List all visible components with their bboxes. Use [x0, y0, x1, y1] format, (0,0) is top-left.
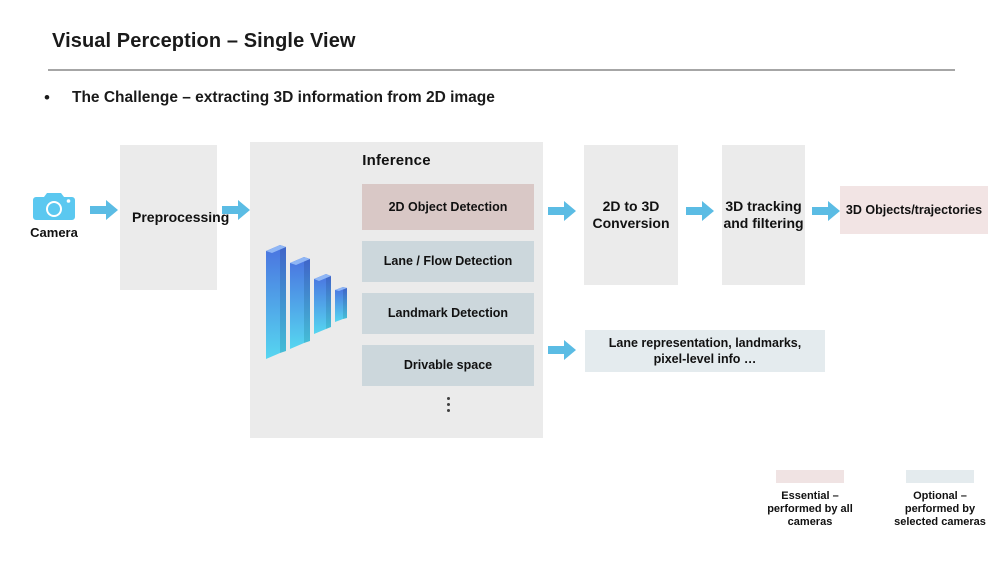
task-drivable-space[interactable]: Drivable space — [362, 345, 534, 386]
arrow-conversion-to-tracking — [686, 200, 714, 222]
title-divider — [48, 69, 955, 71]
inference-task-list: 2D Object Detection Lane / Flow Detectio… — [362, 184, 534, 415]
output-lane-representation-box[interactable]: Lane representation, landmarks, pixel-le… — [585, 330, 825, 372]
bullet-row: • The Challenge – extracting 3D informat… — [44, 88, 744, 108]
task-2d-object-detection[interactable]: 2D Object Detection — [362, 184, 534, 230]
task-landmark-detection[interactable]: Landmark Detection — [362, 293, 534, 334]
camera-label: Camera — [18, 225, 90, 240]
legend-label-optional: Optional – performed by selected cameras — [885, 490, 995, 529]
camera-icon — [32, 190, 76, 222]
legend-item-optional: Optional – performed by selected cameras — [885, 470, 995, 529]
arrow-preprocessing-to-inference — [222, 199, 250, 221]
neural-network-bars-icon — [264, 237, 352, 365]
inference-title: Inference — [250, 152, 543, 169]
legend-item-essential: Essential – performed by all cameras — [755, 470, 865, 529]
inference-panel: Inference 2D Object Detec — [250, 142, 543, 438]
arrow-inference-to-conversion — [548, 200, 576, 222]
more-tasks-ellipsis-icon — [362, 397, 534, 412]
arrow-camera-to-preprocessing — [90, 199, 118, 221]
legend-label-essential: Essential – performed by all cameras — [755, 490, 865, 529]
arrow-tracking-to-output — [812, 200, 840, 222]
camera-group: Camera — [18, 190, 90, 240]
legend: Essential – performed by all cameras Opt… — [755, 470, 995, 529]
preprocessing-box[interactable]: Preprocessing — [120, 145, 217, 290]
legend-swatch-essential — [776, 470, 844, 483]
legend-swatch-optional — [906, 470, 974, 483]
tracking-box[interactable]: 3D tracking and filtering — [722, 145, 805, 285]
arrow-inference-to-lane-representation — [548, 339, 576, 361]
bullet-marker: • — [44, 88, 72, 108]
conversion-box[interactable]: 2D to 3D Conversion — [584, 145, 678, 285]
output-3d-objects-box[interactable]: 3D Objects/trajectories — [840, 186, 988, 234]
bullet-text: The Challenge – extracting 3D informatio… — [72, 88, 495, 108]
page-title: Visual Perception – Single View — [52, 30, 356, 53]
task-lane-flow-detection[interactable]: Lane / Flow Detection — [362, 241, 534, 282]
